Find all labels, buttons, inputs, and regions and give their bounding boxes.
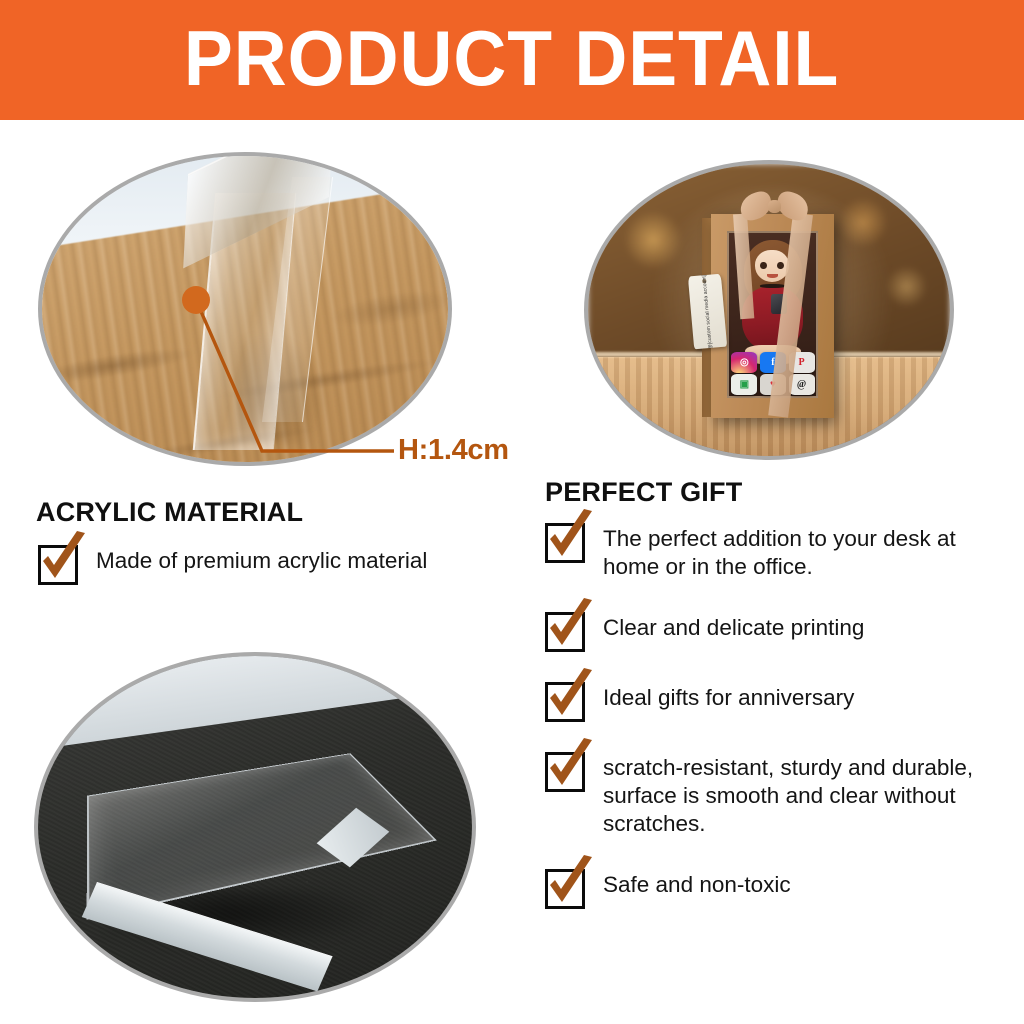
product-detail-page: PRODUCT DETAIL [0, 0, 1024, 1024]
check-glyph [35, 531, 91, 589]
checkmark-icon [545, 612, 585, 652]
list-item-label: Clear and delicate printing [603, 610, 864, 642]
list-item: Ideal gifts for anniversary [545, 680, 1013, 722]
check-glyph [542, 855, 598, 913]
check-glyph [542, 668, 598, 726]
list-item-label: The perfect addition to your desk at hom… [603, 521, 1013, 582]
list-item: Clear and delicate printing [545, 610, 1013, 652]
feature-list-acrylic: Made of premium acrylic material [38, 543, 508, 611]
check-glyph [542, 738, 598, 796]
header-banner: PRODUCT DETAIL [0, 0, 1024, 120]
height-label: H:1.4cm [398, 434, 509, 467]
acrylic-block-edge-photo [38, 152, 452, 466]
section-title-acrylic-material: ACRYLIC MATERIAL [36, 497, 303, 528]
figurine-left-eye [760, 262, 767, 270]
list-item: Made of premium acrylic material [38, 543, 508, 585]
instagram-icon: ◎ [731, 352, 757, 373]
list-item-label: Safe and non-toxic [603, 867, 791, 899]
check-glyph [542, 509, 598, 567]
hang-tag: @[custom social media account] [688, 274, 727, 350]
check-glyph [542, 598, 598, 656]
whatsapp-camera-icon: ▣ [731, 374, 757, 395]
list-item: The perfect addition to your desk at hom… [545, 521, 1013, 582]
satin-bow [740, 192, 809, 221]
section-title-perfect-gift: PERFECT GIFT [545, 477, 742, 508]
feature-list-perfect-gift: The perfect addition to your desk at hom… [545, 521, 1013, 937]
hang-tag-label: @[custom social media account] [701, 274, 714, 349]
acrylic-slab-photo [34, 652, 476, 1002]
checkmark-icon [545, 682, 585, 722]
list-item-label: scratch-resistant, sturdy and durable, s… [603, 750, 1013, 839]
figurine-right-eye [777, 262, 784, 270]
list-item-label: Made of premium acrylic material [96, 543, 427, 575]
acrylic-slab-scene [38, 656, 472, 998]
gift-box-scene: ◎ f P ▣ ♥ @ @[custom social media accoun… [588, 164, 950, 456]
checkmark-icon [545, 752, 585, 792]
page-title: PRODUCT DETAIL [184, 19, 839, 101]
gift-box-photo: ◎ f P ▣ ♥ @ @[custom social media accoun… [584, 160, 954, 460]
list-item-label: Ideal gifts for anniversary [603, 680, 854, 712]
checkmark-icon [545, 869, 585, 909]
list-item: Safe and non-toxic [545, 867, 1013, 909]
acrylic-edge-scene [42, 156, 448, 462]
list-item: scratch-resistant, sturdy and durable, s… [545, 750, 1013, 839]
bow-knot [768, 200, 782, 213]
checkmark-icon [38, 545, 78, 585]
checkmark-icon [545, 523, 585, 563]
